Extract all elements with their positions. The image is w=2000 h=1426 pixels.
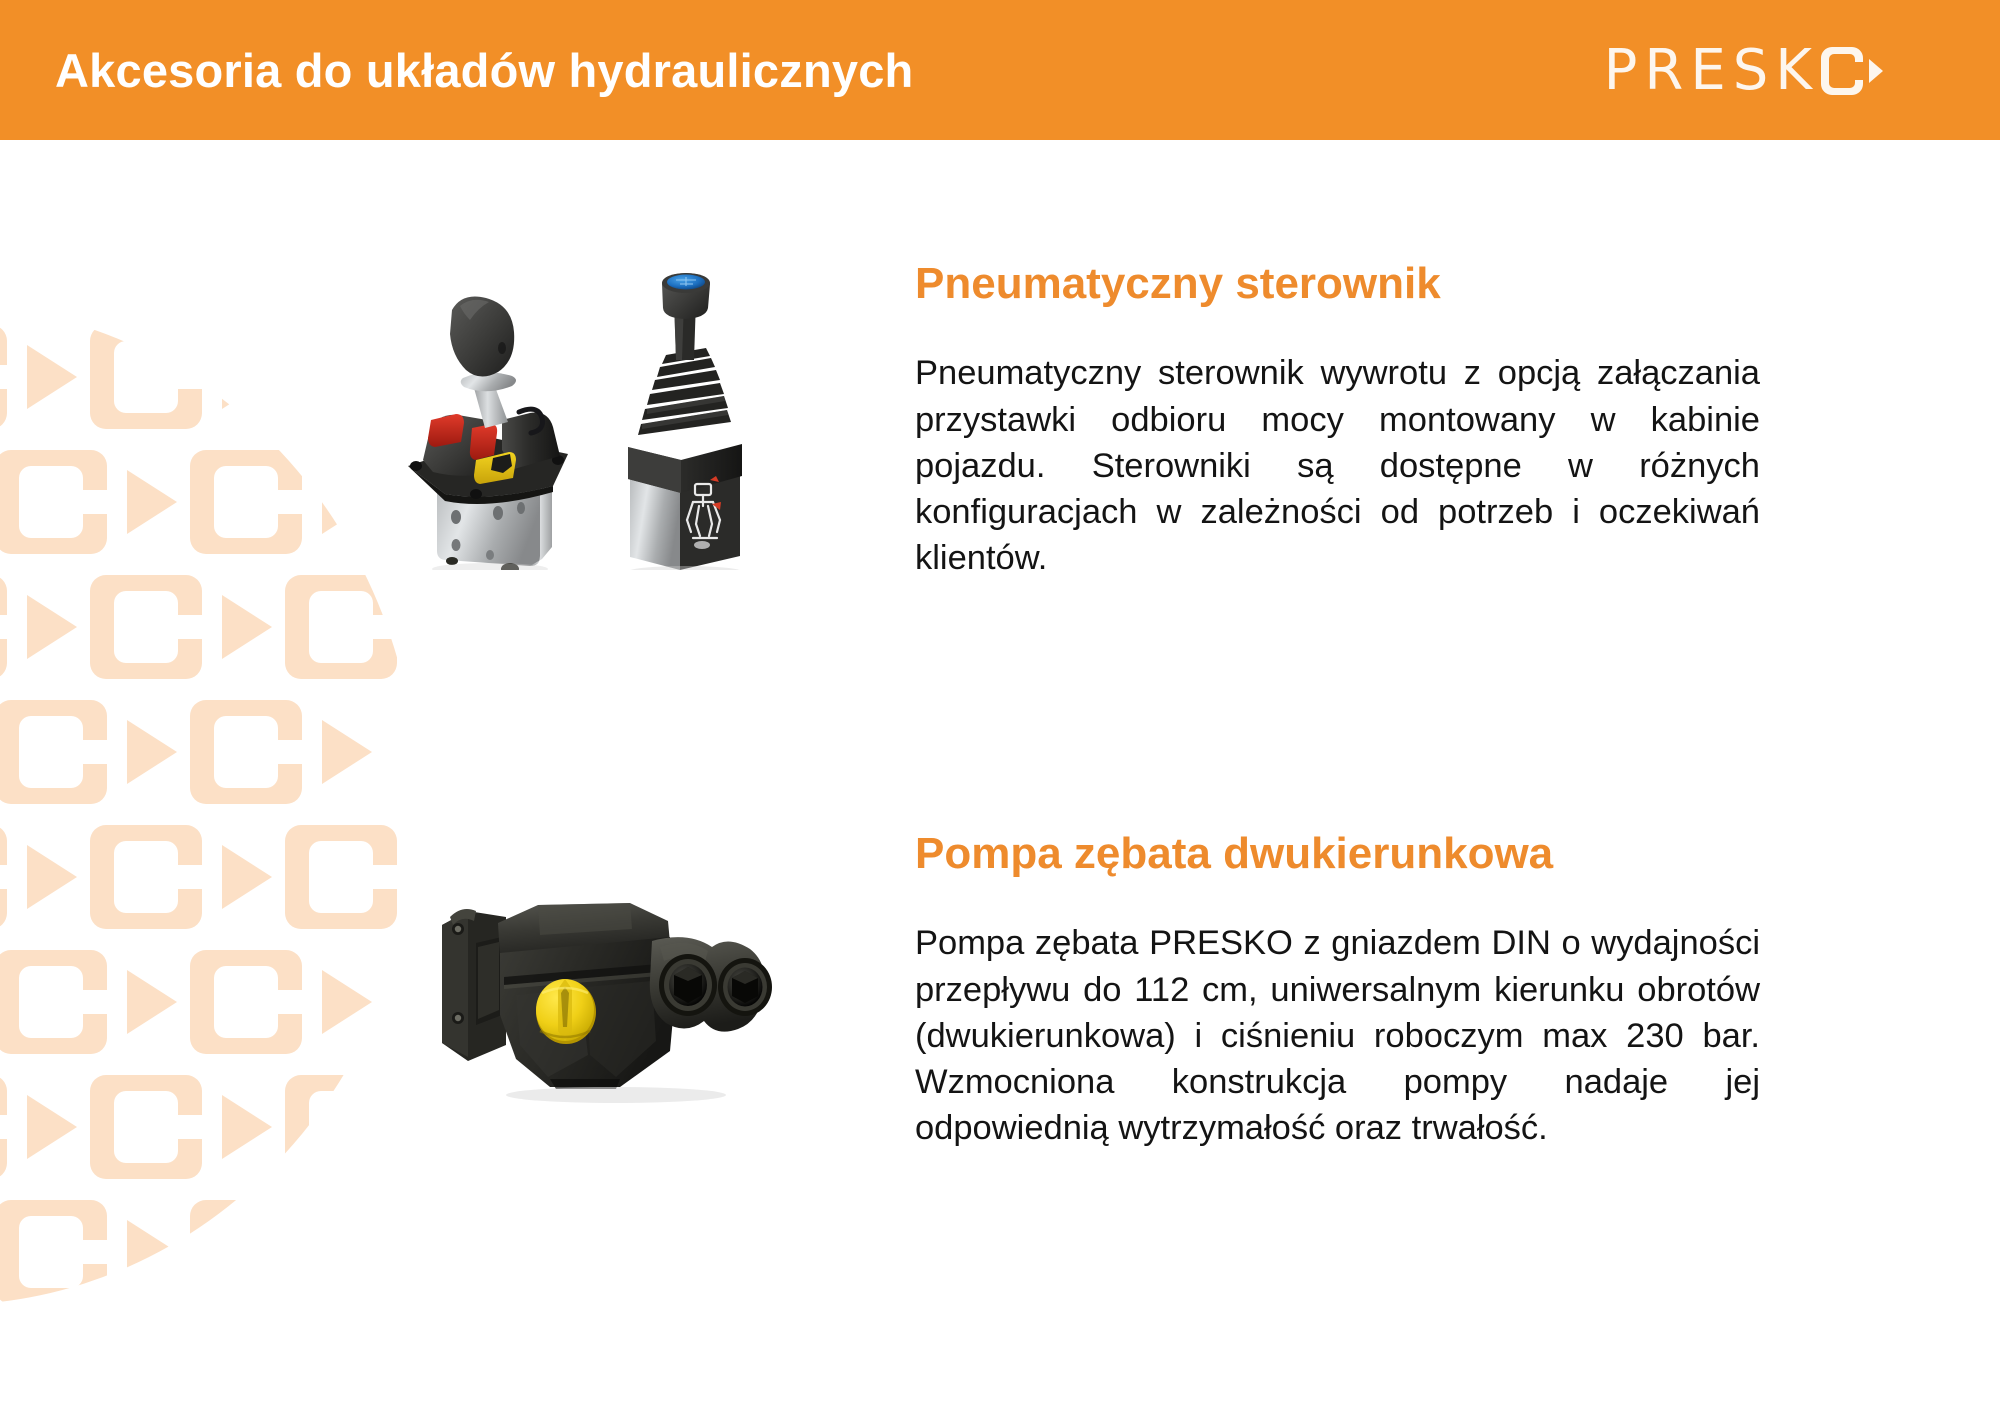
- section-pneumatic-controller: Pneumatyczny sterownik Pneumatyczny ster…: [0, 260, 1880, 590]
- section-2-body: Pompa zębata PRESKO z gniazdem DIN o wyd…: [915, 920, 1760, 1151]
- slide-content: Pneumatyczny sterownik Pneumatyczny ster…: [0, 140, 2000, 1426]
- section-gear-pump: Pompa zębata dwukierunkowa Pompa zębata …: [0, 830, 1880, 1160]
- presko-logo: PRESK: [1604, 43, 1883, 99]
- section-2-heading: Pompa zębata dwukierunkowa: [915, 830, 1760, 878]
- section-1-body: Pneumatyczny sterownik wywrotu z opcją z…: [915, 350, 1760, 581]
- gear-pump-photo: [0, 830, 915, 1160]
- page-title: Akcesoria do układów hydraulicznych: [55, 43, 913, 98]
- presko-o-arrow-icon: [1821, 47, 1883, 95]
- section-1-text: Pneumatyczny sterownik Pneumatyczny ster…: [915, 260, 1880, 581]
- section-2-text: Pompa zębata dwukierunkowa Pompa zębata …: [915, 830, 1880, 1151]
- logo-wordmark: PRESK: [1604, 43, 1819, 99]
- section-1-heading: Pneumatyczny sterownik: [915, 260, 1760, 308]
- pneumatic-controller-photo: [0, 260, 915, 590]
- header-bar: Akcesoria do układów hydraulicznych PRES…: [0, 0, 2000, 140]
